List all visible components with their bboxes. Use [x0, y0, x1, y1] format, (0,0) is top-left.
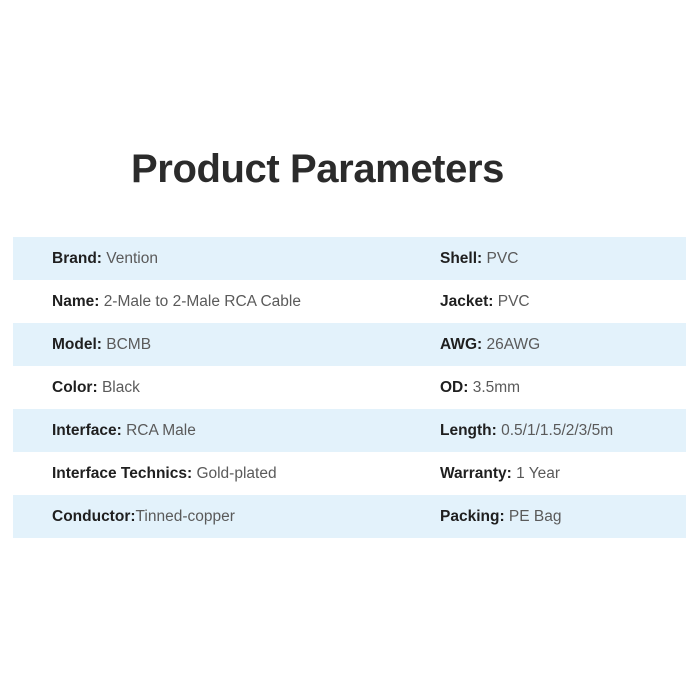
- spec-separator: :: [92, 378, 101, 398]
- spec-label: Color: [52, 378, 92, 398]
- spec-label: OD: [440, 378, 463, 398]
- spec-label: Length: [440, 421, 492, 441]
- spec-value: PVC: [487, 249, 519, 269]
- spec-value: Vention: [106, 249, 158, 269]
- table-row: Interface: RCA MaleLength: 0.5/1/1.5/2/3…: [13, 409, 686, 452]
- spec-label: Interface Technics: [52, 464, 187, 484]
- spec-cell-right: Jacket: PVC: [440, 292, 686, 312]
- spec-label: Jacket: [440, 292, 488, 312]
- spec-cell-left: Model: BCMB: [13, 335, 440, 355]
- spec-value: PE Bag: [509, 507, 562, 527]
- spec-separator: :: [492, 421, 501, 441]
- spec-separator: :: [94, 292, 103, 312]
- spec-separator: :: [463, 378, 472, 398]
- table-row: Model: BCMBAWG: 26AWG: [13, 323, 686, 366]
- spec-cell-left: Conductor:Tinned-copper: [13, 507, 440, 527]
- spec-cell-left: Name: 2-Male to 2-Male RCA Cable: [13, 292, 440, 312]
- spec-value: Gold-plated: [196, 464, 276, 484]
- spec-separator: :: [117, 421, 126, 441]
- spec-cell-right: Shell: PVC: [440, 249, 686, 269]
- spec-value: 3.5mm: [473, 378, 520, 398]
- spec-cell-left: Interface: RCA Male: [13, 421, 440, 441]
- spec-cell-left: Color: Black: [13, 378, 440, 398]
- spec-label: Conductor: [52, 507, 130, 527]
- table-row: Color: BlackOD: 3.5mm: [13, 366, 686, 409]
- spec-value: Black: [102, 378, 140, 398]
- spec-separator: :: [187, 464, 196, 484]
- spec-separator: :: [477, 335, 486, 355]
- spec-separator: :: [507, 464, 516, 484]
- spec-value: PVC: [498, 292, 530, 312]
- spec-cell-left: Brand: Vention: [13, 249, 440, 269]
- spec-label: Interface: [52, 421, 117, 441]
- table-row: Brand: VentionShell: PVC: [13, 237, 686, 280]
- table-row: Interface Technics: Gold-platedWarranty:…: [13, 452, 686, 495]
- spec-cell-right: Warranty: 1 Year: [440, 464, 686, 484]
- spec-value: 26AWG: [487, 335, 541, 355]
- spec-label: Brand: [52, 249, 97, 269]
- table-row: Conductor:Tinned-copperPacking: PE Bag: [13, 495, 686, 538]
- spec-separator: :: [499, 507, 508, 527]
- spec-label: Model: [52, 335, 97, 355]
- specifications-table: Brand: VentionShell: PVCName: 2-Male to …: [13, 237, 686, 538]
- spec-separator: :: [97, 335, 106, 355]
- spec-label: Warranty: [440, 464, 507, 484]
- spec-cell-right: Packing: PE Bag: [440, 507, 686, 527]
- spec-value: 0.5/1/1.5/2/3/5m: [501, 421, 613, 441]
- table-row: Name: 2-Male to 2-Male RCA CableJacket: …: [13, 280, 686, 323]
- spec-label: AWG: [440, 335, 477, 355]
- spec-value: 2-Male to 2-Male RCA Cable: [104, 292, 301, 312]
- spec-cell-left: Interface Technics: Gold-plated: [13, 464, 440, 484]
- spec-cell-right: Length: 0.5/1/1.5/2/3/5m: [440, 421, 686, 441]
- spec-value: 1 Year: [516, 464, 560, 484]
- spec-label: Packing: [440, 507, 499, 527]
- spec-label: Name: [52, 292, 94, 312]
- spec-value: RCA Male: [126, 421, 196, 441]
- product-parameters-page: Product Parameters Brand: VentionShell: …: [0, 0, 700, 700]
- spec-label: Shell: [440, 249, 477, 269]
- spec-separator: :: [477, 249, 486, 269]
- spec-separator: :: [97, 249, 106, 269]
- spec-value: BCMB: [106, 335, 151, 355]
- spec-cell-right: OD: 3.5mm: [440, 378, 686, 398]
- spec-value: Tinned-copper: [136, 507, 235, 527]
- page-title: Product Parameters: [131, 142, 504, 196]
- spec-separator: :: [488, 292, 497, 312]
- spec-cell-right: AWG: 26AWG: [440, 335, 686, 355]
